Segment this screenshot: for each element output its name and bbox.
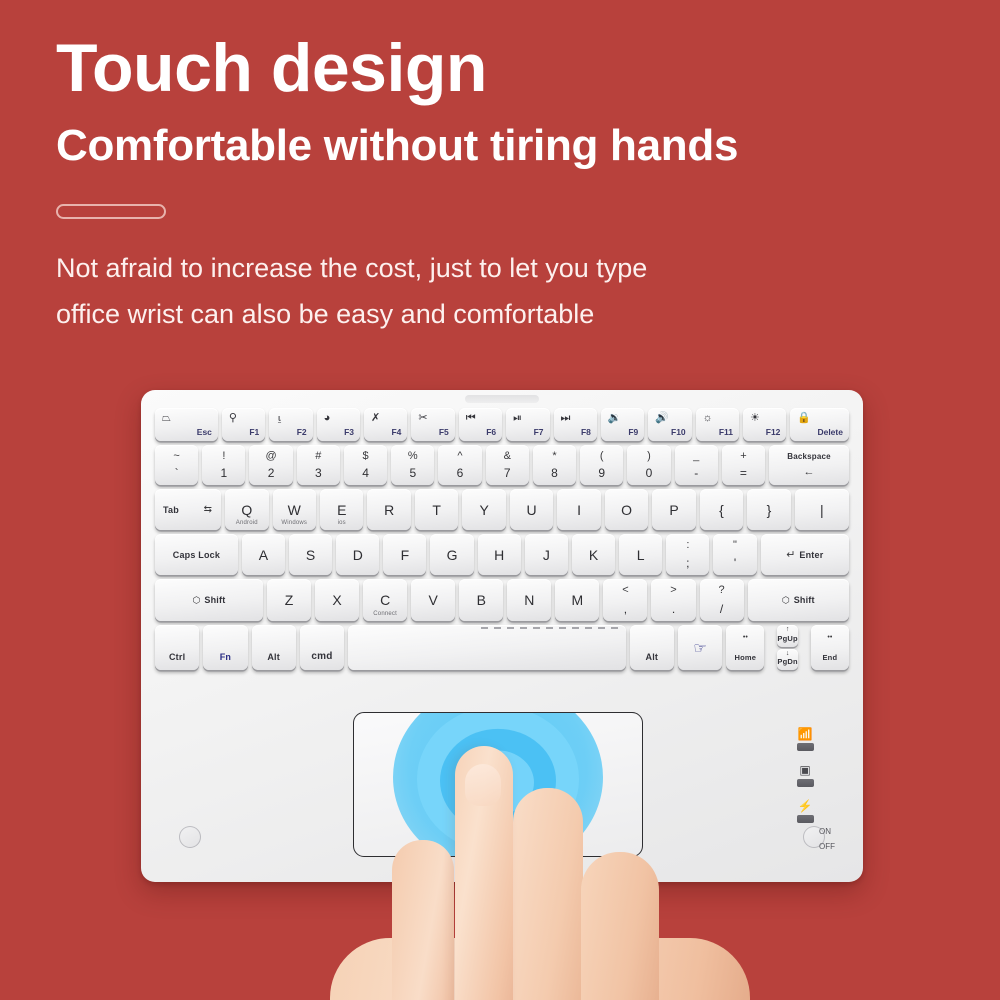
key-shift-right[interactable]: ⬡ Shift xyxy=(748,579,849,621)
key-k-label: K xyxy=(589,548,598,562)
play-pause-icon: ⏯ xyxy=(513,413,522,424)
cut-scissors-icon: ✂ xyxy=(418,413,427,424)
key-8[interactable]: * 8 xyxy=(533,445,576,485)
screenshot-icon: ✗ xyxy=(371,413,380,424)
key-q[interactable]: Q Android xyxy=(225,489,268,530)
key-slash[interactable]: ? / xyxy=(700,579,744,621)
key-4[interactable]: $ 4 xyxy=(344,445,387,485)
key-o[interactable]: O xyxy=(605,489,648,530)
key-alt-left-label: Alt xyxy=(267,652,280,662)
key-fn-label: Fn xyxy=(220,652,231,662)
key-caps-lock[interactable]: Caps Lock xyxy=(155,534,238,575)
key-n[interactable]: N xyxy=(507,579,551,621)
key-4-top: $ xyxy=(362,450,368,462)
key-5[interactable]: % 5 xyxy=(391,445,434,485)
key-backspace[interactable]: Backspace ← xyxy=(769,445,849,485)
key-backtick-top: ~ xyxy=(173,450,179,462)
key-7-bottom: 7 xyxy=(504,466,511,480)
key-backtick[interactable]: ~ ` xyxy=(155,445,198,485)
key-f2[interactable]: ⍸ F2 xyxy=(269,408,312,441)
key-l-label: L xyxy=(637,548,645,562)
battery-led-bar xyxy=(797,779,814,787)
arrow-up-icon: ↑ xyxy=(786,626,790,633)
key-h-label: H xyxy=(494,548,504,562)
key-f12[interactable]: ☀ F12 xyxy=(743,408,786,441)
key-e[interactable]: E ios xyxy=(320,489,363,530)
key-f4[interactable]: ✗ F4 xyxy=(364,408,407,441)
switch-on-label: ON xyxy=(819,824,835,839)
key-minus[interactable]: _ - xyxy=(675,445,718,485)
charging-icon: ⚡ xyxy=(798,800,813,812)
key-pageup-pagedown[interactable]: ↑ PgUp ↓ PgDn xyxy=(768,625,806,670)
cursor-icon: ☞ xyxy=(693,639,706,657)
key-g[interactable]: G xyxy=(430,534,473,575)
return-arrow-icon: ↵ xyxy=(786,548,795,561)
key-1-bottom: 1 xyxy=(221,466,228,480)
key-0-top: ) xyxy=(647,450,651,462)
key-bracket-left[interactable]: { xyxy=(700,489,743,530)
key-alt-right[interactable]: Alt xyxy=(630,625,674,670)
key-semicolon-top: : xyxy=(686,539,689,551)
key-g-label: G xyxy=(447,548,458,562)
key-f5-label: F5 xyxy=(439,427,449,437)
key-f11-label: F11 xyxy=(719,427,733,437)
key-f9[interactable]: 🔉 F9 xyxy=(601,408,644,441)
key-page-down[interactable]: ↓ PgDn xyxy=(777,649,797,671)
shift-key-row: ⬡ Shift Z X C Connect V B N M < , > xyxy=(155,579,849,621)
key-3-top: # xyxy=(315,450,321,462)
key-slash-bottom: / xyxy=(720,602,723,616)
volume-down-icon: 🔉 xyxy=(608,413,622,424)
arrow-down-icon: ↓ xyxy=(786,650,790,657)
key-backspace-label: Backspace xyxy=(787,452,831,461)
key-f8[interactable]: ⏭ F8 xyxy=(554,408,597,441)
key-m-label: M xyxy=(572,593,584,607)
next-track-icon: ⏭ xyxy=(561,413,571,424)
divider-pill xyxy=(56,204,166,219)
key-bracket-left-label: { xyxy=(719,503,724,517)
key-u-label: U xyxy=(527,503,537,517)
key-3[interactable]: # 3 xyxy=(297,445,340,485)
key-period[interactable]: > . xyxy=(651,579,695,621)
brightness-down-icon: ☼ xyxy=(703,413,713,424)
key-delete[interactable]: 🔒 Delete xyxy=(790,408,849,441)
battery-indicator: ▣ xyxy=(777,764,833,787)
key-m[interactable]: M xyxy=(555,579,599,621)
charging-led-bar xyxy=(797,815,814,823)
key-q-label: Q xyxy=(241,503,252,517)
key-3-bottom: 3 xyxy=(315,466,322,480)
key-6-bottom: 6 xyxy=(457,466,464,480)
key-period-top: > xyxy=(670,584,676,596)
key-quote[interactable]: " ' xyxy=(713,534,756,575)
arrow-dot-icon-end: •• xyxy=(827,634,832,641)
palm-rest: 📶 ▣ ⚡ ON OFF xyxy=(155,708,849,866)
key-comma-top: < xyxy=(622,584,628,596)
key-f3-label: F3 xyxy=(344,427,354,437)
key-8-top: * xyxy=(552,450,556,462)
qwerty-key-row: Tab ⇆ Q Android W Windows E ios R T Y xyxy=(155,489,849,530)
key-0-bottom: 0 xyxy=(646,466,653,480)
key-backtick-bottom: ` xyxy=(175,466,179,480)
key-f6-label: F6 xyxy=(486,427,496,437)
key-c-sublabel: Connect xyxy=(373,611,397,617)
switch-off-label: OFF xyxy=(819,839,835,854)
battery-icon: ▣ xyxy=(799,764,810,776)
arrow-dot-icon-home: •• xyxy=(743,634,748,641)
key-n-label: N xyxy=(524,593,534,607)
key-page-down-label: PgDn xyxy=(777,657,797,666)
home-icon: ⏢ xyxy=(162,413,171,424)
key-9[interactable]: ( 9 xyxy=(580,445,623,485)
key-caps-lock-label: Caps Lock xyxy=(173,550,220,560)
charging-indicator: ⚡ xyxy=(777,800,833,823)
key-w[interactable]: W Windows xyxy=(273,489,316,530)
key-c[interactable]: C Connect xyxy=(363,579,407,621)
body-line-1: Not afraid to increase the cost, just to… xyxy=(56,245,956,291)
key-esc[interactable]: ⏢ Esc xyxy=(155,408,218,441)
key-d[interactable]: D xyxy=(336,534,379,575)
key-tab[interactable]: Tab ⇆ xyxy=(155,489,221,530)
key-i[interactable]: I xyxy=(557,489,600,530)
key-enter-label: Enter xyxy=(799,550,823,560)
key-x-label: X xyxy=(332,593,341,607)
key-q-sublabel: Android xyxy=(236,520,258,526)
key-minus-bottom: - xyxy=(694,466,698,480)
bluetooth-led-bar xyxy=(797,743,814,751)
key-d-label: D xyxy=(353,548,363,562)
key-5-bottom: 5 xyxy=(409,466,416,480)
body-line-2: office wrist can also be easy and comfor… xyxy=(56,291,956,337)
key-end[interactable]: •• End xyxy=(811,625,849,670)
tab-arrows-icon: ⇆ xyxy=(204,505,212,515)
number-key-row: ~ ` ! 1 @ 2 # 3 $ 4 xyxy=(155,445,849,485)
key-f7-label: F7 xyxy=(534,427,544,437)
key-f12-label: F12 xyxy=(766,427,781,437)
home-key-row: Caps Lock A S D F G H J K L : ; " ' xyxy=(155,534,849,575)
key-alt-right-label: Alt xyxy=(645,652,658,662)
key-alt-left[interactable]: Alt xyxy=(252,625,296,670)
key-s-label: S xyxy=(306,548,315,562)
key-s[interactable]: S xyxy=(289,534,332,575)
keyboard-device: ⏢ Esc ⚲ F1 ⍸ F2 ◕ F3 ✗ F4 xyxy=(141,390,863,882)
previous-track-icon: ⏮ xyxy=(466,413,476,424)
key-cmd[interactable]: cmd xyxy=(300,625,344,670)
key-r-label: R xyxy=(384,503,394,517)
key-shift-left[interactable]: ⬡ Shift xyxy=(155,579,263,621)
key-minus-top: _ xyxy=(693,450,699,462)
bluetooth-icon: 📶 xyxy=(798,728,813,740)
key-delete-label: Delete xyxy=(817,427,843,437)
key-t-label: T xyxy=(432,503,441,517)
key-semicolon[interactable]: : ; xyxy=(666,534,709,575)
copy-block: Touch design Comfortable without tiring … xyxy=(56,34,956,338)
key-semicolon-bottom: ; xyxy=(686,556,689,570)
page-subtitle: Comfortable without tiring hands xyxy=(56,124,956,168)
product-banner: Touch design Comfortable without tiring … xyxy=(0,0,1000,1000)
key-ctrl[interactable]: Ctrl xyxy=(155,625,199,670)
keyboard-top-slot xyxy=(465,395,539,403)
key-1-top: ! xyxy=(222,450,225,462)
arrow-left-icon: ← xyxy=(804,466,815,478)
key-5-top: % xyxy=(408,450,418,462)
key-i-label: I xyxy=(577,503,581,517)
key-comma[interactable]: < , xyxy=(603,579,647,621)
key-0[interactable]: ) 0 xyxy=(627,445,670,485)
key-f5[interactable]: ✂ F5 xyxy=(411,408,454,441)
key-f3[interactable]: ◕ F3 xyxy=(317,408,360,441)
key-j-label: J xyxy=(543,548,550,562)
key-equals-bottom: = xyxy=(740,466,747,480)
key-j[interactable]: J xyxy=(525,534,568,575)
key-c-label: C xyxy=(380,593,390,607)
palm-shape xyxy=(330,938,750,1000)
key-comma-bottom: , xyxy=(624,602,627,616)
key-ctrl-label: Ctrl xyxy=(169,652,185,662)
shift-up-arrow-icon: ⬡ xyxy=(193,595,201,606)
key-7-top: & xyxy=(504,450,511,462)
key-f10-label: F10 xyxy=(671,427,686,437)
shift-up-arrow-icon-right: ⬡ xyxy=(782,595,790,606)
brightness-up-icon: ☀ xyxy=(750,413,760,424)
key-f7[interactable]: ⏯ F7 xyxy=(506,408,549,441)
function-key-row: ⏢ Esc ⚲ F1 ⍸ F2 ◕ F3 ✗ F4 xyxy=(155,408,849,441)
key-f1-label: F1 xyxy=(249,427,259,437)
key-shift-right-label: Shift xyxy=(794,595,815,605)
bluetooth-indicator: 📶 xyxy=(777,728,833,751)
key-1[interactable]: ! 1 xyxy=(202,445,245,485)
key-o-label: O xyxy=(621,503,632,517)
key-slash-top: ? xyxy=(719,584,725,596)
key-h[interactable]: H xyxy=(478,534,521,575)
touch-ripple-inner xyxy=(462,750,534,814)
key-p-label: P xyxy=(669,503,678,517)
key-backslash[interactable]: | xyxy=(795,489,849,530)
search-icon: ⚲ xyxy=(229,413,237,424)
key-equals-top: + xyxy=(740,450,746,462)
key-f8-label: F8 xyxy=(581,427,591,437)
key-home[interactable]: •• Home xyxy=(726,625,764,670)
key-deck: ⏢ Esc ⚲ F1 ⍸ F2 ◕ F3 ✗ F4 xyxy=(155,408,849,698)
key-k[interactable]: K xyxy=(572,534,615,575)
key-a-label: A xyxy=(259,548,268,562)
touchpad[interactable] xyxy=(353,712,643,857)
key-shift-left-label: Shift xyxy=(204,595,225,605)
volume-up-icon: 🔊 xyxy=(655,413,669,424)
key-8-bottom: 8 xyxy=(551,466,558,480)
key-u[interactable]: U xyxy=(510,489,553,530)
key-quote-top: " xyxy=(733,539,737,551)
key-9-top: ( xyxy=(600,450,604,462)
screen-icon: ⍸ xyxy=(276,413,283,424)
key-f1[interactable]: ⚲ F1 xyxy=(222,408,265,441)
key-x[interactable]: X xyxy=(315,579,359,621)
key-y-label: Y xyxy=(479,503,488,517)
key-enter[interactable]: ↵ Enter xyxy=(761,534,849,575)
key-bracket-right[interactable]: } xyxy=(747,489,790,530)
key-end-label: End xyxy=(822,653,837,662)
key-e-label: E xyxy=(337,503,346,517)
key-b[interactable]: B xyxy=(459,579,503,621)
key-7[interactable]: & 7 xyxy=(486,445,529,485)
lock-icon: 🔒 xyxy=(797,413,811,424)
keyboard-light-icon: ◕ xyxy=(324,413,331,424)
key-f[interactable]: F xyxy=(383,534,426,575)
key-r[interactable]: R xyxy=(367,489,410,530)
key-2-top: @ xyxy=(265,450,276,462)
spacebar-dash-decor xyxy=(481,627,621,629)
key-z-label: Z xyxy=(285,593,294,607)
key-9-bottom: 9 xyxy=(598,466,605,480)
key-f-label: F xyxy=(401,548,410,562)
key-f6[interactable]: ⏮ F6 xyxy=(459,408,502,441)
key-quote-bottom: ' xyxy=(734,556,736,570)
key-z[interactable]: Z xyxy=(267,579,311,621)
key-space[interactable] xyxy=(348,625,626,670)
key-2[interactable]: @ 2 xyxy=(249,445,292,485)
key-6[interactable]: ^ 6 xyxy=(438,445,481,485)
status-indicator-group: 📶 ▣ ⚡ ON OFF xyxy=(777,728,833,836)
key-p[interactable]: P xyxy=(652,489,695,530)
key-touchpad-toggle[interactable]: ☞ xyxy=(678,625,722,670)
key-page-up[interactable]: ↑ PgUp xyxy=(777,625,797,647)
key-e-sublabel: ios xyxy=(338,520,346,526)
key-2-bottom: 2 xyxy=(268,466,275,480)
body-copy: Not afraid to increase the cost, just to… xyxy=(56,245,956,338)
key-fn[interactable]: Fn xyxy=(203,625,247,670)
key-f11[interactable]: ☼ F11 xyxy=(696,408,739,441)
key-v[interactable]: V xyxy=(411,579,455,621)
key-4-bottom: 4 xyxy=(362,466,369,480)
key-bracket-right-label: } xyxy=(767,503,772,517)
key-backslash-label: | xyxy=(820,503,824,517)
key-w-label: W xyxy=(288,503,301,517)
rubber-foot-left xyxy=(179,826,201,848)
key-esc-label: Esc xyxy=(197,427,212,437)
key-y[interactable]: Y xyxy=(462,489,505,530)
page-title: Touch design xyxy=(56,34,956,102)
key-cmd-label: cmd xyxy=(311,651,332,662)
key-6-top: ^ xyxy=(457,450,462,462)
key-f2-label: F2 xyxy=(297,427,307,437)
key-home-label: Home xyxy=(735,653,757,662)
key-page-up-label: PgUp xyxy=(777,634,797,643)
key-l[interactable]: L xyxy=(619,534,662,575)
key-v-label: V xyxy=(429,593,438,607)
key-tab-label: Tab xyxy=(163,505,179,515)
key-f9-label: F9 xyxy=(628,427,638,437)
key-f4-label: F4 xyxy=(391,427,401,437)
key-f10[interactable]: 🔊 F10 xyxy=(648,408,691,441)
key-period-bottom: . xyxy=(672,602,675,616)
power-switch-labels: ON OFF xyxy=(819,824,835,854)
key-b-label: B xyxy=(477,593,486,607)
modifier-key-row: Ctrl Fn Alt cmd Alt ☞ xyxy=(155,625,849,670)
key-a[interactable]: A xyxy=(242,534,285,575)
key-equals[interactable]: + = xyxy=(722,445,765,485)
key-t[interactable]: T xyxy=(415,489,458,530)
key-w-sublabel: Windows xyxy=(281,520,307,526)
